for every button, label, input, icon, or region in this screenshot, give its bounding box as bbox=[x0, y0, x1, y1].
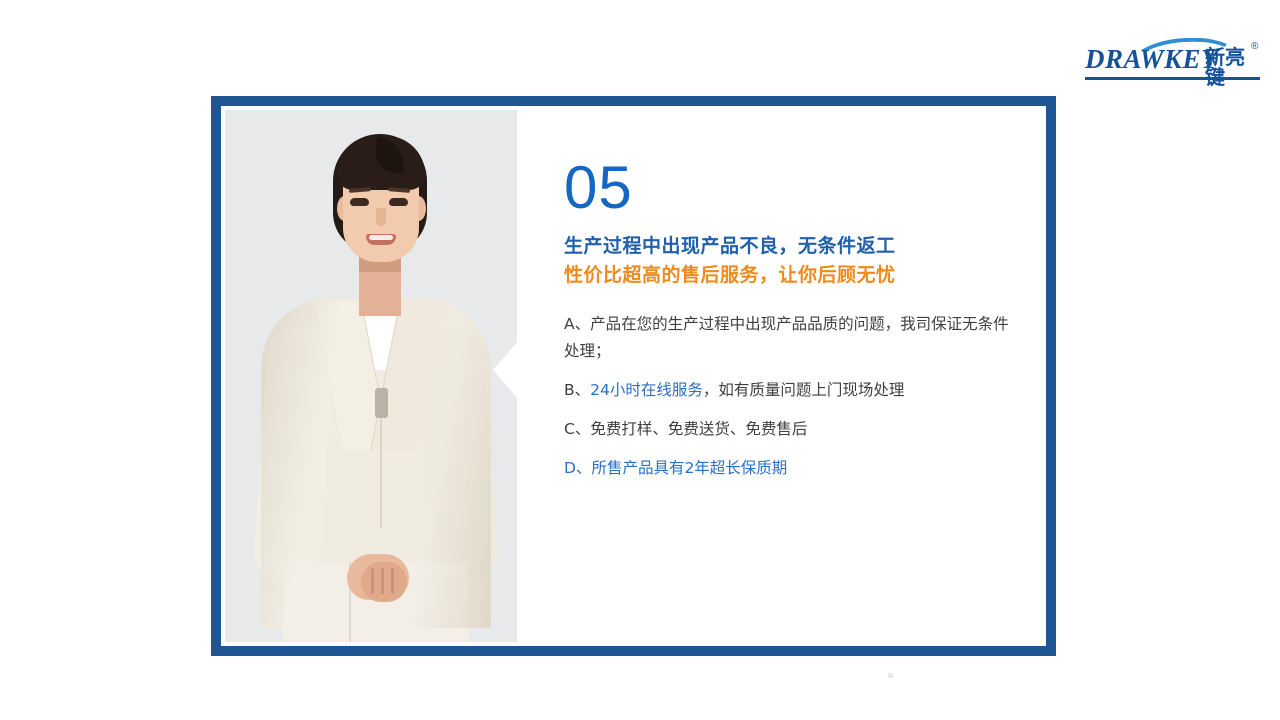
headline-primary: 生产过程中出现产品不良，无条件返工 bbox=[564, 232, 1020, 261]
section-number: 05 bbox=[564, 158, 1020, 218]
bullet-highlight-b: 24小时在线服务 bbox=[590, 381, 703, 399]
brand-chinese-name: 新亮键 bbox=[1205, 47, 1260, 87]
portrait-nose bbox=[376, 208, 386, 226]
bullet-label-a: A、 bbox=[564, 315, 590, 333]
card-body: 05 生产过程中出现产品不良，无条件返工 性价比超高的售后服务，让你后顾无忧 A… bbox=[225, 110, 1042, 642]
portrait-eye-left bbox=[350, 198, 369, 206]
list-item: A、产品在您的生产过程中出现产品品质的问题，我司保证无条件处理； bbox=[564, 311, 1020, 365]
portrait-finger bbox=[391, 568, 394, 594]
headline-secondary: 性价比超高的售后服务，让你后顾无忧 bbox=[564, 261, 1020, 290]
bullet-label-b: B、 bbox=[564, 381, 590, 399]
page-artifact-speck bbox=[888, 673, 893, 678]
portrait-eye-right bbox=[389, 198, 408, 206]
card-inner-gap: 05 生产过程中出现产品不良，无条件返工 性价比超高的售后服务，让你后顾无忧 A… bbox=[221, 106, 1046, 646]
businesswoman-portrait-image bbox=[225, 110, 517, 642]
text-panel: 05 生产过程中出现产品不良，无条件返工 性价比超高的售后服务，让你后顾无忧 A… bbox=[517, 110, 1042, 642]
bullet-text-c: 免费打样、免费送货、免费售后 bbox=[590, 420, 807, 438]
registered-trademark-icon: ® bbox=[1251, 41, 1258, 52]
brand-logo: DRAWKEY 新亮键 ® bbox=[1085, 36, 1260, 84]
panel-divider-notch-icon bbox=[493, 340, 517, 400]
portrait-hand-upper bbox=[361, 562, 407, 602]
portrait-teeth bbox=[369, 235, 393, 240]
brand-underline bbox=[1085, 77, 1260, 80]
bullet-label-c: C、 bbox=[564, 420, 590, 438]
bullet-text-b: ，如有质量问题上门现场处理 bbox=[703, 381, 905, 399]
bullet-text-d: 所售产品具有2年超长保质期 bbox=[591, 459, 787, 477]
list-item: B、24小时在线服务，如有质量问题上门现场处理 bbox=[564, 377, 1020, 404]
bullet-text-a: 产品在您的生产过程中出现产品品质的问题，我司保证无条件处理； bbox=[564, 315, 1009, 360]
portrait-finger bbox=[371, 568, 374, 594]
bullet-label-d: D、 bbox=[564, 459, 591, 477]
portrait-finger bbox=[381, 568, 384, 594]
photo-panel bbox=[225, 110, 517, 642]
list-item: C、免费打样、免费送货、免费售后 bbox=[564, 416, 1020, 443]
list-item: D、所售产品具有2年超长保质期 bbox=[564, 455, 1020, 482]
content-card-frame: 05 生产过程中出现产品不良，无条件返工 性价比超高的售后服务，让你后顾无忧 A… bbox=[211, 96, 1056, 656]
brand-wordmark: DRAWKEY bbox=[1085, 46, 1218, 73]
